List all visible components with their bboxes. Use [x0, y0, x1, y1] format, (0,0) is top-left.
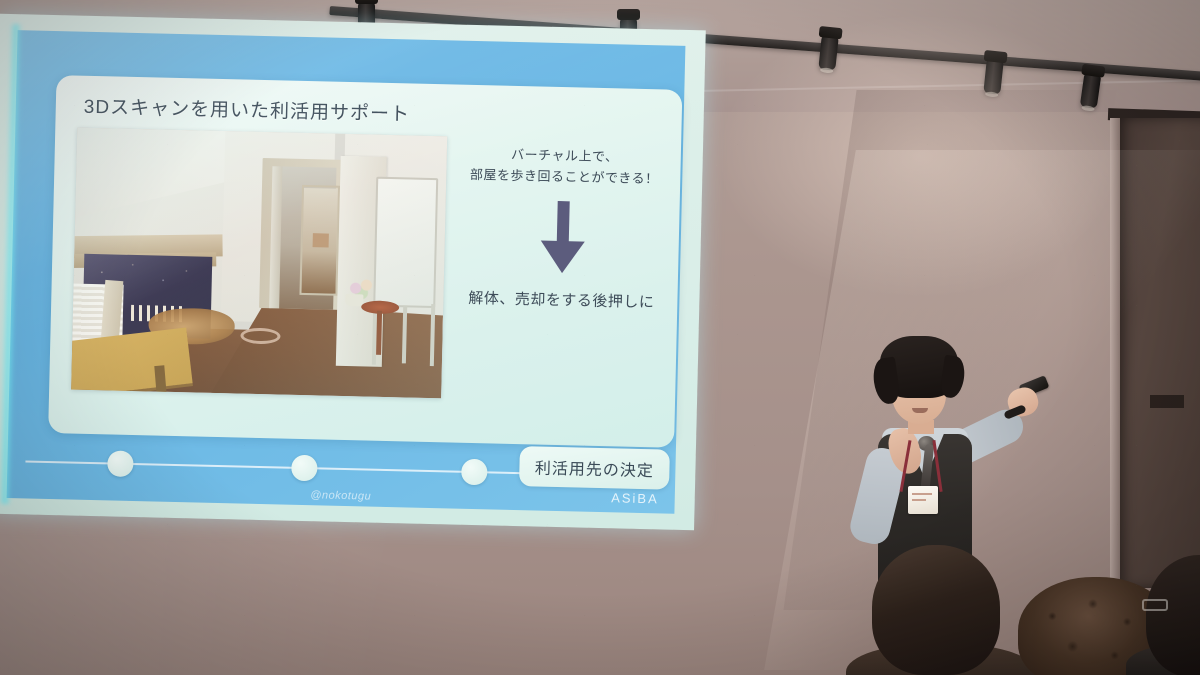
timeline-step-dot[interactable]: [107, 450, 134, 477]
alcove-edge: [1110, 118, 1120, 588]
photo-whiteboard: [373, 177, 438, 308]
presenter-hair-side-right: [939, 355, 967, 400]
audience-head: [1146, 555, 1200, 675]
timeline-step-dot[interactable]: [461, 459, 488, 486]
name-badge: [908, 486, 938, 514]
photo-side-table-leg: [376, 311, 382, 355]
projected-slide: 3Dスキャンを用いた利活用サポート: [0, 14, 706, 530]
wall-alcove: [1118, 118, 1200, 588]
callout-result: 解体、売却をする後押しに: [455, 287, 667, 313]
track-light-icon: [983, 59, 1003, 95]
page-title: 3Dスキャンを用いた利活用サポート: [84, 92, 411, 127]
slide-background: 3Dスキャンを用いた利活用サポート: [7, 30, 686, 514]
audience-head: [872, 545, 1000, 675]
callout-line-2: 部屋を歩き回ることができる！: [458, 164, 670, 190]
down-arrow-icon: [456, 199, 670, 282]
progress-timeline: [25, 448, 545, 486]
presentation-room-scene: 3Dスキャンを用いた利活用サポート: [0, 0, 1200, 675]
presenter-mouth: [912, 408, 928, 413]
alcove-fixture: [1150, 395, 1184, 408]
photo-wood-table-leg: [154, 365, 166, 394]
current-step-badge: 利活用先の決定: [519, 446, 670, 490]
timeline-step-dot[interactable]: [291, 455, 318, 482]
audience-glasses-icon: [1142, 599, 1168, 611]
slide-content-card: 3Dスキャンを用いた利活用サポート: [48, 75, 682, 448]
callout-block: バーチャル上で、 部屋を歩き回ることができる！ 解体、売却をする後押しに: [455, 143, 671, 313]
track-light-icon: [818, 35, 838, 71]
brand-logo: ASiBA: [611, 490, 659, 506]
audience-member: [862, 535, 1022, 675]
room-3d-scan-photo: [71, 128, 447, 399]
photo-hallway-furniture: [313, 233, 329, 247]
audience-member: [1140, 547, 1200, 675]
